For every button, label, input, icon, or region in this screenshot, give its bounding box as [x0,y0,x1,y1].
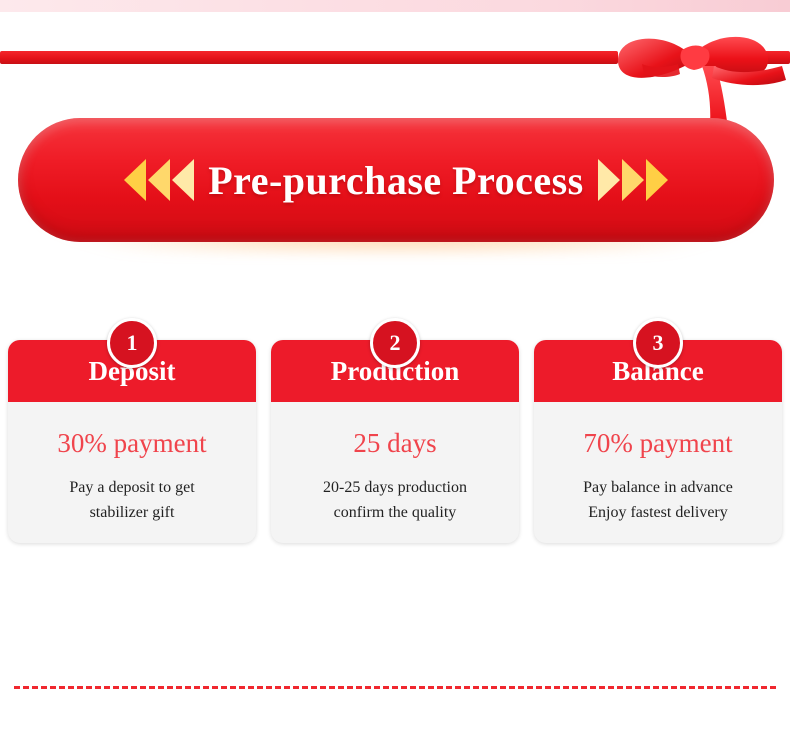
process-steps: 1 Deposit 30% payment Pay a deposit to g… [8,340,782,543]
ribbon-band-left [0,51,618,64]
step-body-line: stabilizer gift [22,500,242,525]
banner: Pre-purchase Process [18,118,774,254]
step-body-line: Pay balance in advance [548,475,768,500]
step-body-1: Pay a deposit to get stabilizer gift [8,475,256,525]
step-body-line: Pay a deposit to get [22,475,242,500]
top-pink-strip [0,0,790,12]
step-body-line: Enjoy fastest delivery [548,500,768,525]
step-badge-3: 3 [633,318,683,368]
dashed-divider [14,686,776,689]
step-card-1: 1 Deposit 30% payment Pay a deposit to g… [8,340,256,543]
page-title: Pre-purchase Process [194,157,598,204]
step-card-3: 3 Balance 70% payment Pay balance in adv… [534,340,782,543]
step-body-3: Pay balance in advance Enjoy fastest del… [534,475,782,525]
step-highlight-3: 70% payment [534,428,782,459]
step-highlight-2: 25 days [271,428,519,459]
step-badge-1: 1 [107,318,157,368]
double-chevron-left-icon [124,159,194,201]
banner-pill: Pre-purchase Process [18,118,774,242]
step-body-line: confirm the quality [285,500,505,525]
step-card-2: 2 Production 25 days 20-25 days producti… [271,340,519,543]
step-body-2: 20-25 days production confirm the qualit… [271,475,519,525]
step-badge-2: 2 [370,318,420,368]
step-highlight-1: 30% payment [8,428,256,459]
step-body-line: 20-25 days production [285,475,505,500]
double-chevron-right-icon [598,159,668,201]
